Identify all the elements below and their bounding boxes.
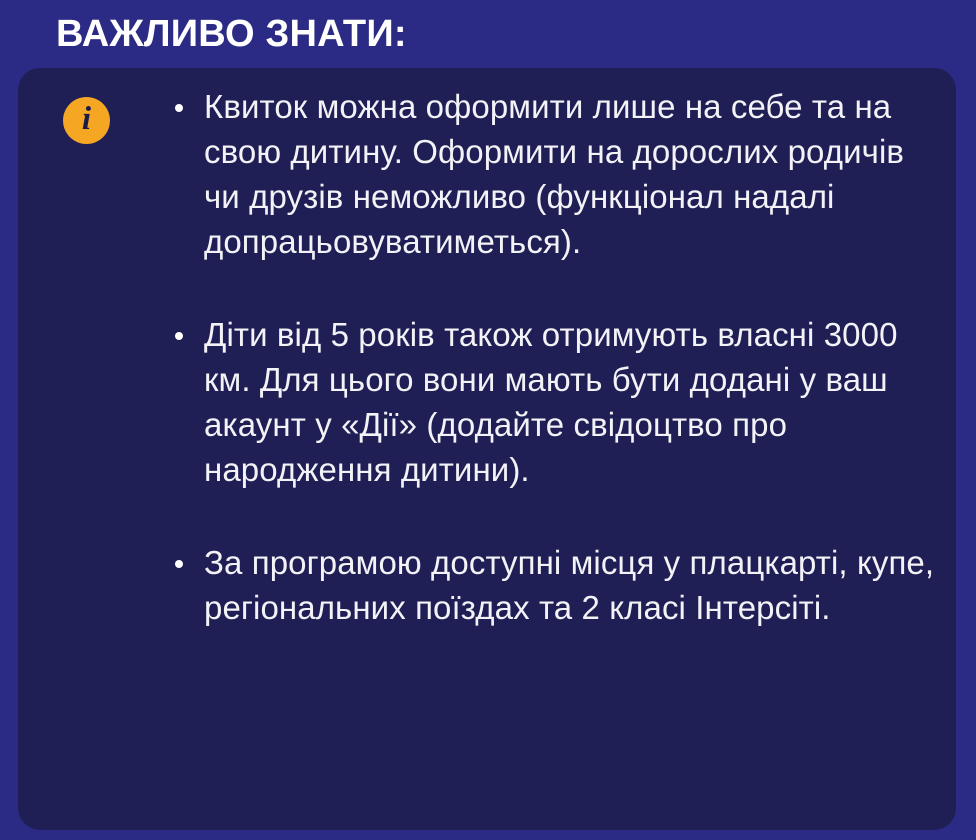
page-background: ВАЖЛИВО ЗНАТИ: i Квиток можна оформити л…: [0, 0, 976, 840]
list-item-text: За програмою доступні місця у плацкарті,…: [204, 540, 948, 630]
notice-bullet-list: Квиток можна оформити лише на себе та на…: [158, 84, 948, 630]
bullet-dot-icon: [175, 560, 183, 568]
list-item: Квиток можна оформити лише на себе та на…: [158, 84, 948, 264]
bullet-dot-icon: [175, 104, 183, 112]
important-notice-card: i Квиток можна оформити лише на себе та …: [18, 68, 956, 830]
list-item: Діти від 5 років також отримують власні …: [158, 312, 948, 492]
info-icon-glyph: i: [82, 103, 91, 136]
info-icon: i: [63, 97, 110, 144]
list-item: За програмою доступні місця у плацкарті,…: [158, 540, 948, 630]
page-title: ВАЖЛИВО ЗНАТИ:: [56, 8, 407, 60]
list-item-text: Діти від 5 років також отримують власні …: [204, 312, 948, 492]
list-item-text: Квиток можна оформити лише на себе та на…: [204, 84, 948, 264]
bullet-dot-icon: [175, 332, 183, 340]
